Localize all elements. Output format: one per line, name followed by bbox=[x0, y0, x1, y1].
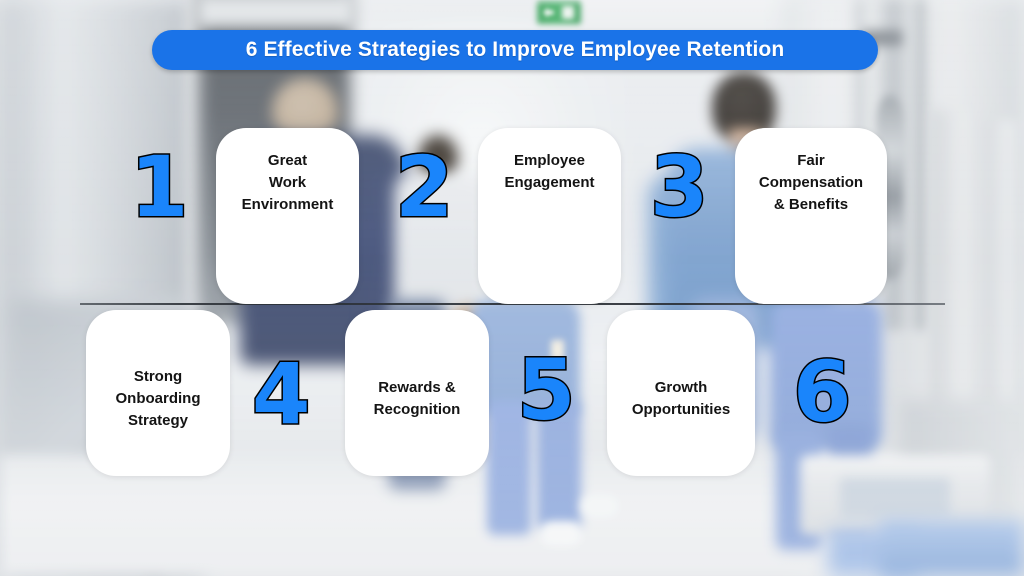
infographic-overlay: 6 Effective Strategies to Improve Employ… bbox=[0, 0, 1024, 576]
page-title-banner: 6 Effective Strategies to Improve Employ… bbox=[152, 30, 878, 70]
strategy-number-3: 3 bbox=[650, 145, 708, 229]
strategy-number-6: 6 bbox=[793, 350, 851, 434]
strategy-number-2: 2 bbox=[395, 145, 453, 229]
strategy-label-4: Strong Onboarding Strategy bbox=[108, 366, 209, 431]
strategy-card-6[interactable]: Growth Opportunities bbox=[607, 310, 755, 476]
strategy-label-2: Employee Engagement bbox=[496, 150, 602, 194]
page-title: 6 Effective Strategies to Improve Employ… bbox=[246, 38, 785, 62]
strategy-card-5[interactable]: Rewards & Recognition bbox=[345, 310, 489, 476]
strategy-label-6: Growth Opportunities bbox=[624, 377, 738, 421]
strategy-number-4: 4 bbox=[252, 352, 310, 436]
strategy-number-1: 1 bbox=[130, 145, 188, 229]
strategy-label-1: Great Work Environment bbox=[234, 150, 342, 215]
strategy-card-4[interactable]: Strong Onboarding Strategy bbox=[86, 310, 230, 476]
strategy-card-2[interactable]: Employee Engagement bbox=[478, 128, 621, 304]
strategy-label-3: Fair Compensation & Benefits bbox=[751, 150, 871, 215]
strategy-card-3[interactable]: Fair Compensation & Benefits bbox=[735, 128, 887, 304]
strategy-label-5: Rewards & Recognition bbox=[366, 377, 469, 421]
strategy-card-1[interactable]: Great Work Environment bbox=[216, 128, 359, 304]
strategy-number-5: 5 bbox=[517, 348, 575, 432]
